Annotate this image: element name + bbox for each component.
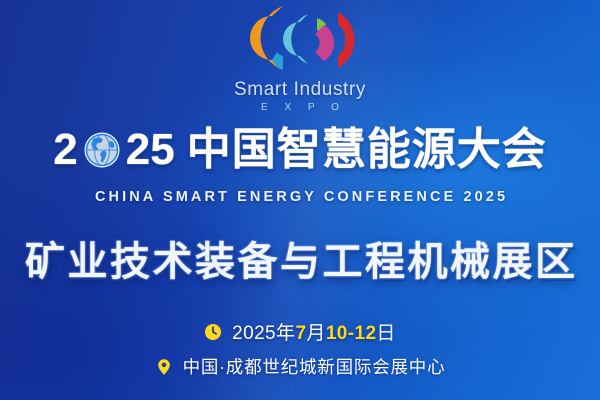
title-year-prefix: 2 — [53, 128, 77, 172]
date-year: 2025年 — [232, 323, 295, 344]
clock-icon — [204, 323, 222, 341]
globe-icon — [82, 130, 122, 170]
main-title: 2 25 — [0, 128, 600, 172]
date-month-char: 月 — [306, 323, 325, 344]
venue-text: 中国·成都世纪城新国际会展中心 — [183, 354, 446, 379]
logo-wordmark-main: Smart Industry — [0, 80, 600, 100]
title-english: CHINA SMART ENERGY CONFERENCE 2025 — [0, 189, 600, 205]
zone-headline: 矿业技术装备与工程机械展区 — [0, 240, 600, 285]
logo-wordmark-sub: E X P O — [0, 102, 600, 113]
date-text: 2025年7月10-12日 — [232, 318, 396, 345]
venue-row: 中国·成都世纪城新国际会展中心 — [0, 354, 600, 379]
date-day-char: 日 — [376, 323, 395, 344]
info-block: 2025年7月10-12日 中国·成都世纪城新国际会展中心 — [0, 318, 600, 388]
date-month-number: 7 — [295, 323, 306, 344]
smart-industry-expo-arcs-icon — [225, 2, 375, 76]
map-pin-icon — [155, 358, 173, 376]
main-title-row: 2 25 — [53, 128, 546, 172]
date-row: 2025年7月10-12日 — [0, 318, 600, 345]
conference-poster: Smart Industry E X P O 2 — [0, 0, 600, 400]
title-year-suffix: 25 — [126, 128, 175, 172]
date-days: 10-12 — [326, 323, 377, 344]
title-chinese: 中国智慧能源大会 — [187, 128, 547, 172]
expo-logo-wordmark: Smart Industry E X P O — [0, 80, 600, 113]
expo-logo-mark — [0, 2, 600, 76]
